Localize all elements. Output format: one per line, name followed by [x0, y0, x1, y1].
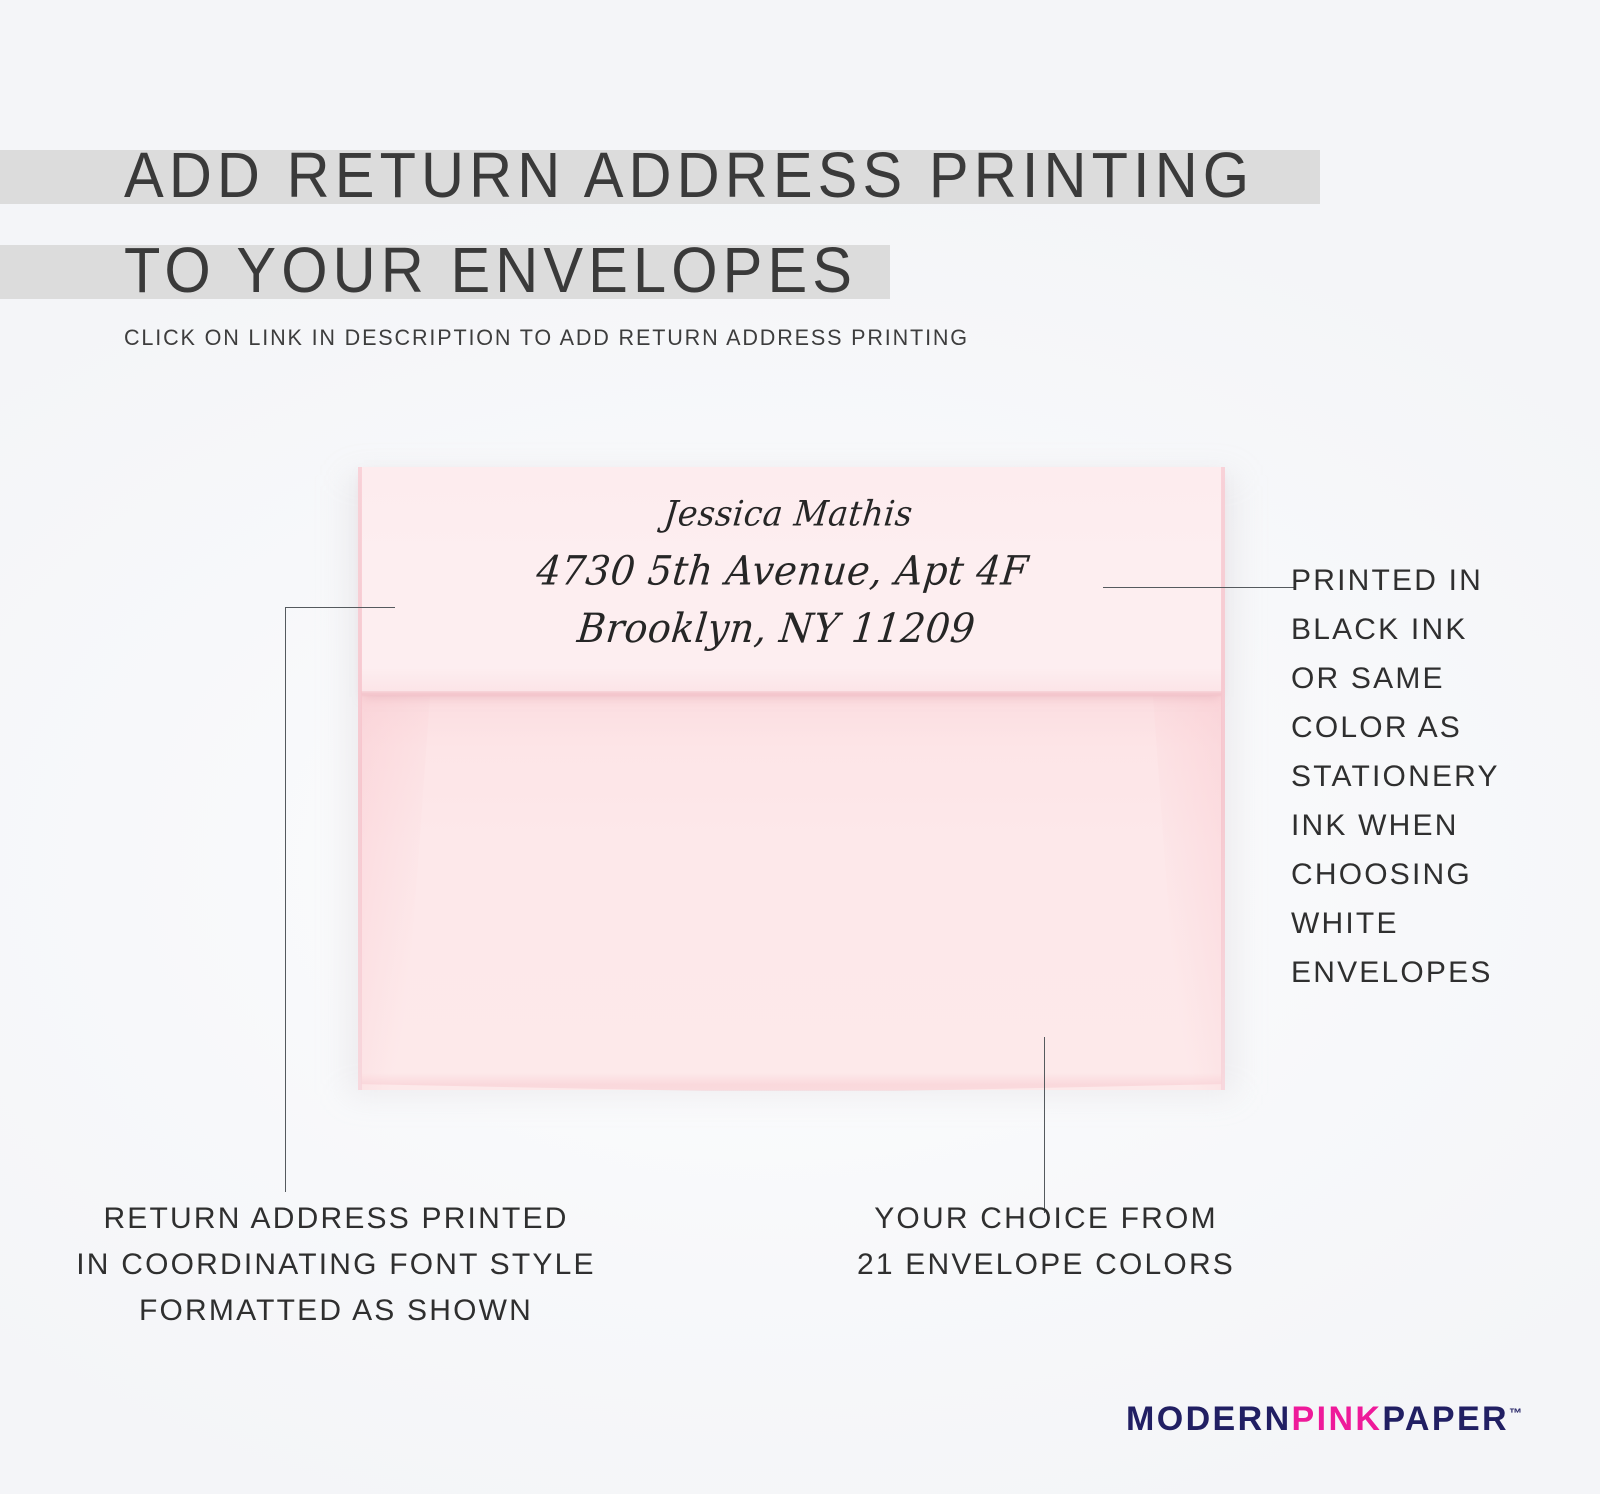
logo-word-pink: PINK	[1292, 1400, 1383, 1438]
callout-printed-ink: PRINTED IN BLACK INK OR SAME COLOR AS ST…	[1291, 556, 1591, 997]
page-subtitle: CLICK ON LINK IN DESCRIPTION TO ADD RETU…	[124, 325, 969, 351]
return-address-name: Jessica Mathis	[355, 485, 1222, 542]
envelope-edge-right	[1221, 467, 1225, 1090]
brand-logo: MODERNPINKPAPER™	[1126, 1400, 1522, 1439]
leader-line-left-vertical	[285, 607, 286, 1192]
envelope-body	[361, 683, 1222, 1090]
envelope-mockup: Jessica Mathis 4730 5th Avenue, Apt 4F B…	[361, 467, 1222, 1090]
leader-line-right-horizontal	[1103, 587, 1295, 588]
callout-return-address-font: RETURN ADDRESS PRINTED IN COORDINATING F…	[28, 1196, 644, 1334]
return-address-block: Jessica Mathis 4730 5th Avenue, Apt 4F B…	[343, 485, 1222, 657]
return-address-city-state-zip: Brooklyn, NY 11209	[343, 599, 1210, 656]
return-address-street: 4730 5th Avenue, Apt 4F	[349, 542, 1216, 599]
logo-word-paper: PAPER	[1382, 1400, 1509, 1438]
page-background: ADD RETURN ADDRESS PRINTING TO YOUR ENVE…	[0, 0, 1600, 1494]
callout-envelope-colors: YOUR CHOICE FROM 21 ENVELOPE COLORS	[838, 1196, 1254, 1288]
page-title-line-1: ADD RETURN ADDRESS PRINTING	[124, 138, 1254, 212]
envelope-flap-edge	[361, 691, 1222, 697]
page-title-line-2: TO YOUR ENVELOPES	[124, 233, 857, 307]
logo-word-modern: MODERN	[1126, 1400, 1292, 1438]
leader-line-left-horizontal	[285, 607, 395, 608]
leader-line-middle-vertical	[1044, 1037, 1045, 1213]
trademark-symbol: ™	[1509, 1406, 1522, 1421]
